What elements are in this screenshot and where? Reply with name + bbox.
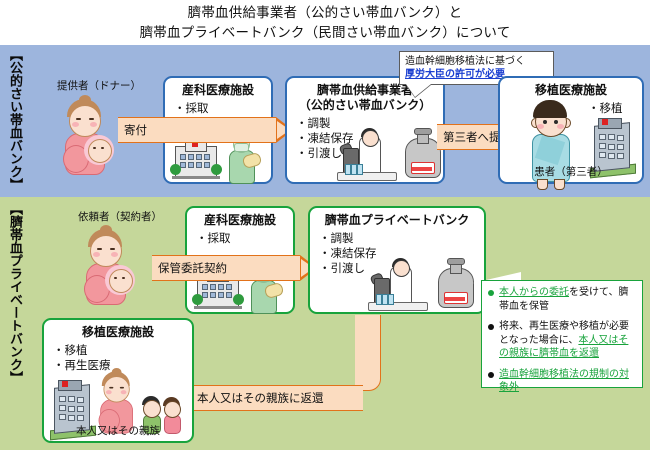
mother-icon (92, 368, 141, 427)
bullet-item: ・移植 (53, 343, 192, 358)
private-bank-notes-panel: 本人からの委託を受けて、臍帯血を保管 将来、再生医療や移植が必要となった場合に、… (481, 280, 643, 388)
public-transplant-facility-box: 移植医療施設 ・移植 患者（第三者） (498, 76, 644, 184)
bullet-dot-icon (488, 324, 494, 330)
cryo-tank-icon (405, 128, 441, 180)
page-title-line1: 臍帯血供給事業者（公的さい帯血バンク）と (0, 3, 650, 23)
note-link: 本人からの委託 (499, 287, 569, 298)
private-obstetric-title: 産科医療施設 (187, 213, 293, 228)
diagram-root: 臍帯血供給事業者（公的さい帯血バンク）と 臍帯血プライベートバンク（民間さい帯血… (0, 0, 650, 450)
note-text: 造血幹細胞移植法の規制の対象外 (499, 368, 638, 395)
note-item: 将来、再生医療や移植が必要となった場合に、本人又はその親族に臍帯血を返還 (486, 320, 638, 361)
callout-tail-icon (406, 84, 431, 97)
note-text: 将来、再生医療や移植が必要となった場合に、本人又はその親族に臍帯血を返還 (499, 320, 638, 361)
bullet-item: ・採取 (174, 101, 271, 116)
private-transplant-caption: 本人又はその親族 (44, 423, 192, 438)
private-bank-box: 臍帯血プライベートバンク ・調製 ・凍結保存 ・引渡し (308, 206, 486, 314)
public-obstetric-bullets: ・採取 (174, 101, 271, 116)
lab-technician-icon (380, 260, 440, 312)
note-text: 本人からの委託を受けて、臍帯血を保管 (499, 286, 638, 313)
arrow-return-to-self: 本人又はその親族に返還 (173, 385, 363, 411)
bullet-dot-icon (488, 290, 494, 296)
arrow-contract-label: 保管委託契約 (158, 260, 227, 276)
public-obstetric-title: 産科医療施設 (165, 83, 271, 98)
client-label: 依頼者（契約者） (78, 209, 162, 224)
page-title-line2: 臍帯血プライベートバンク（民間さい帯血バンク）について (0, 23, 650, 43)
public-section-label: 【公的さい帯血バンク】 (4, 48, 24, 196)
note-link: 造血幹細胞移植法の規制の対象外 (499, 369, 629, 394)
bullet-item: ・採取 (196, 231, 293, 246)
bullet-dot-icon (488, 372, 494, 378)
return-arrow-elbow (355, 315, 381, 391)
client-illustration (76, 225, 140, 313)
note-item: 造血幹細胞移植法の規制の対象外 (486, 368, 638, 395)
private-transplant-facility-box: 移植医療施設 ・移植 ・再生医療 本人又はその親族 (42, 318, 194, 443)
public-bank-title-line2: （公的さい帯血バンク） (287, 98, 443, 113)
private-obstetric-bullets: ・採取 (196, 231, 293, 246)
bullet-item: ・移植 (588, 101, 642, 116)
note-item: 本人からの委託を受けて、臍帯血を保管 (486, 286, 638, 313)
donor-label: 提供者（ドナー） (57, 78, 141, 93)
bullet-item: ・調製 (319, 231, 484, 246)
cryo-tank-icon (438, 258, 474, 310)
public-transplant-caption: 患者（第三者） (500, 164, 642, 179)
arrow-return-label: 本人又はその親族に返還 (197, 390, 324, 406)
arrow-donate: 寄付 (118, 117, 293, 143)
public-transplant-title: 移植医療施設 (500, 83, 642, 98)
lab-technician-icon (349, 130, 409, 182)
page-title: 臍帯血供給事業者（公的さい帯血バンク）と 臍帯血プライベートバンク（民間さい帯血… (0, 3, 650, 43)
donor-illustration (55, 95, 119, 183)
callout-line1: 造血幹細胞移植法に基づく (405, 55, 548, 68)
arrow-donate-label: 寄付 (124, 122, 147, 138)
public-transplant-bullets: ・移植 (588, 101, 642, 116)
private-section-label: 【臍帯血プライベートバンク】 (4, 202, 24, 448)
private-transplant-title: 移植医療施設 (44, 325, 192, 340)
arrow-storage-contract: 保管委託契約 (152, 255, 317, 281)
private-bank-title: 臍帯血プライベートバンク (310, 213, 484, 228)
hospital-icon (175, 140, 223, 180)
